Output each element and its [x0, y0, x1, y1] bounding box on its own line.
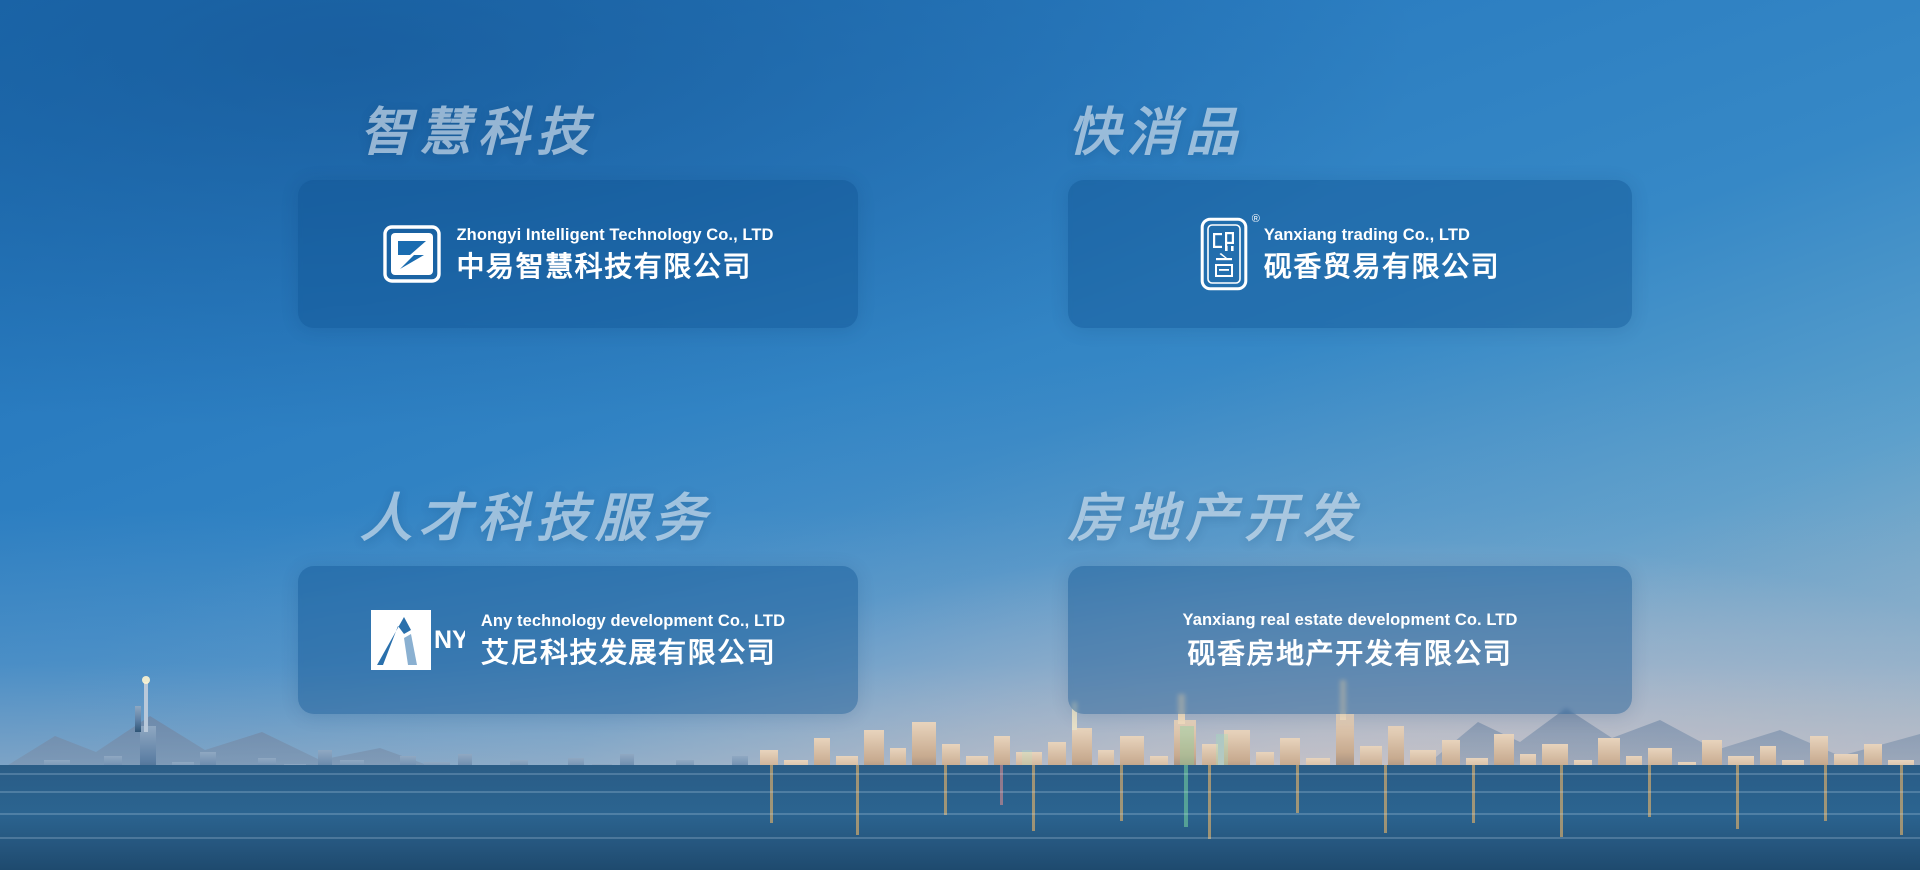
company-names: Any technology development Co., LTD 艾尼科技…	[481, 611, 785, 669]
company-name-cn: 砚香房地产开发有限公司	[1188, 637, 1513, 671]
company-name-en: Any technology development Co., LTD	[481, 611, 785, 632]
segment-title: 人才科技服务	[298, 490, 858, 548]
svg-text:NY: NY	[434, 626, 465, 654]
company-names: Zhongyi Intelligent Technology Co., LTD …	[457, 225, 774, 283]
company-card[interactable]: Yanxiang real estate development Co. LTD…	[1068, 566, 1632, 714]
segment-talent-service: 人才科技服务 NY Any te	[298, 490, 858, 714]
company-name-en: Yanxiang real estate development Co. LTD	[1183, 610, 1518, 631]
segment-title: 快消品	[1068, 104, 1632, 162]
company-name-cn: 艾尼科技发展有限公司	[481, 636, 785, 670]
yanxiang-seal-logo-icon: ®	[1200, 217, 1248, 291]
company-name-en: Zhongyi Intelligent Technology Co., LTD	[457, 225, 774, 246]
segment-fmcg: 快消品	[1068, 104, 1632, 328]
company-names: Yanxiang real estate development Co. LTD…	[1183, 610, 1518, 670]
company-name-cn: 砚香贸易有限公司	[1264, 250, 1500, 284]
company-card[interactable]: ® Yanxiang trading Co., LTD 砚香贸易有限公司	[1068, 180, 1632, 328]
company-card[interactable]: NY Any technology development Co., LTD 艾…	[298, 566, 858, 714]
page-root: 智慧科技 Zhongyi Intelligent Technol	[0, 0, 1920, 870]
company-name-en: Yanxiang trading Co., LTD	[1264, 225, 1500, 246]
segment-real-estate: 房地产开发 Yanxiang real estate development C…	[1068, 490, 1632, 714]
segments-grid: 智慧科技 Zhongyi Intelligent Technol	[0, 0, 1920, 870]
any-mountain-logo-icon: NY	[371, 609, 465, 671]
company-name-cn: 中易智慧科技有限公司	[457, 250, 774, 284]
zhongyi-z-logo-icon	[383, 225, 441, 283]
segment-title: 房地产开发	[1068, 490, 1632, 548]
segment-smart-technology: 智慧科技 Zhongyi Intelligent Technol	[298, 104, 858, 328]
company-card[interactable]: Zhongyi Intelligent Technology Co., LTD …	[298, 180, 858, 328]
segment-title: 智慧科技	[298, 104, 858, 162]
company-names: Yanxiang trading Co., LTD 砚香贸易有限公司	[1264, 225, 1500, 283]
registered-mark: ®	[1252, 214, 1260, 225]
